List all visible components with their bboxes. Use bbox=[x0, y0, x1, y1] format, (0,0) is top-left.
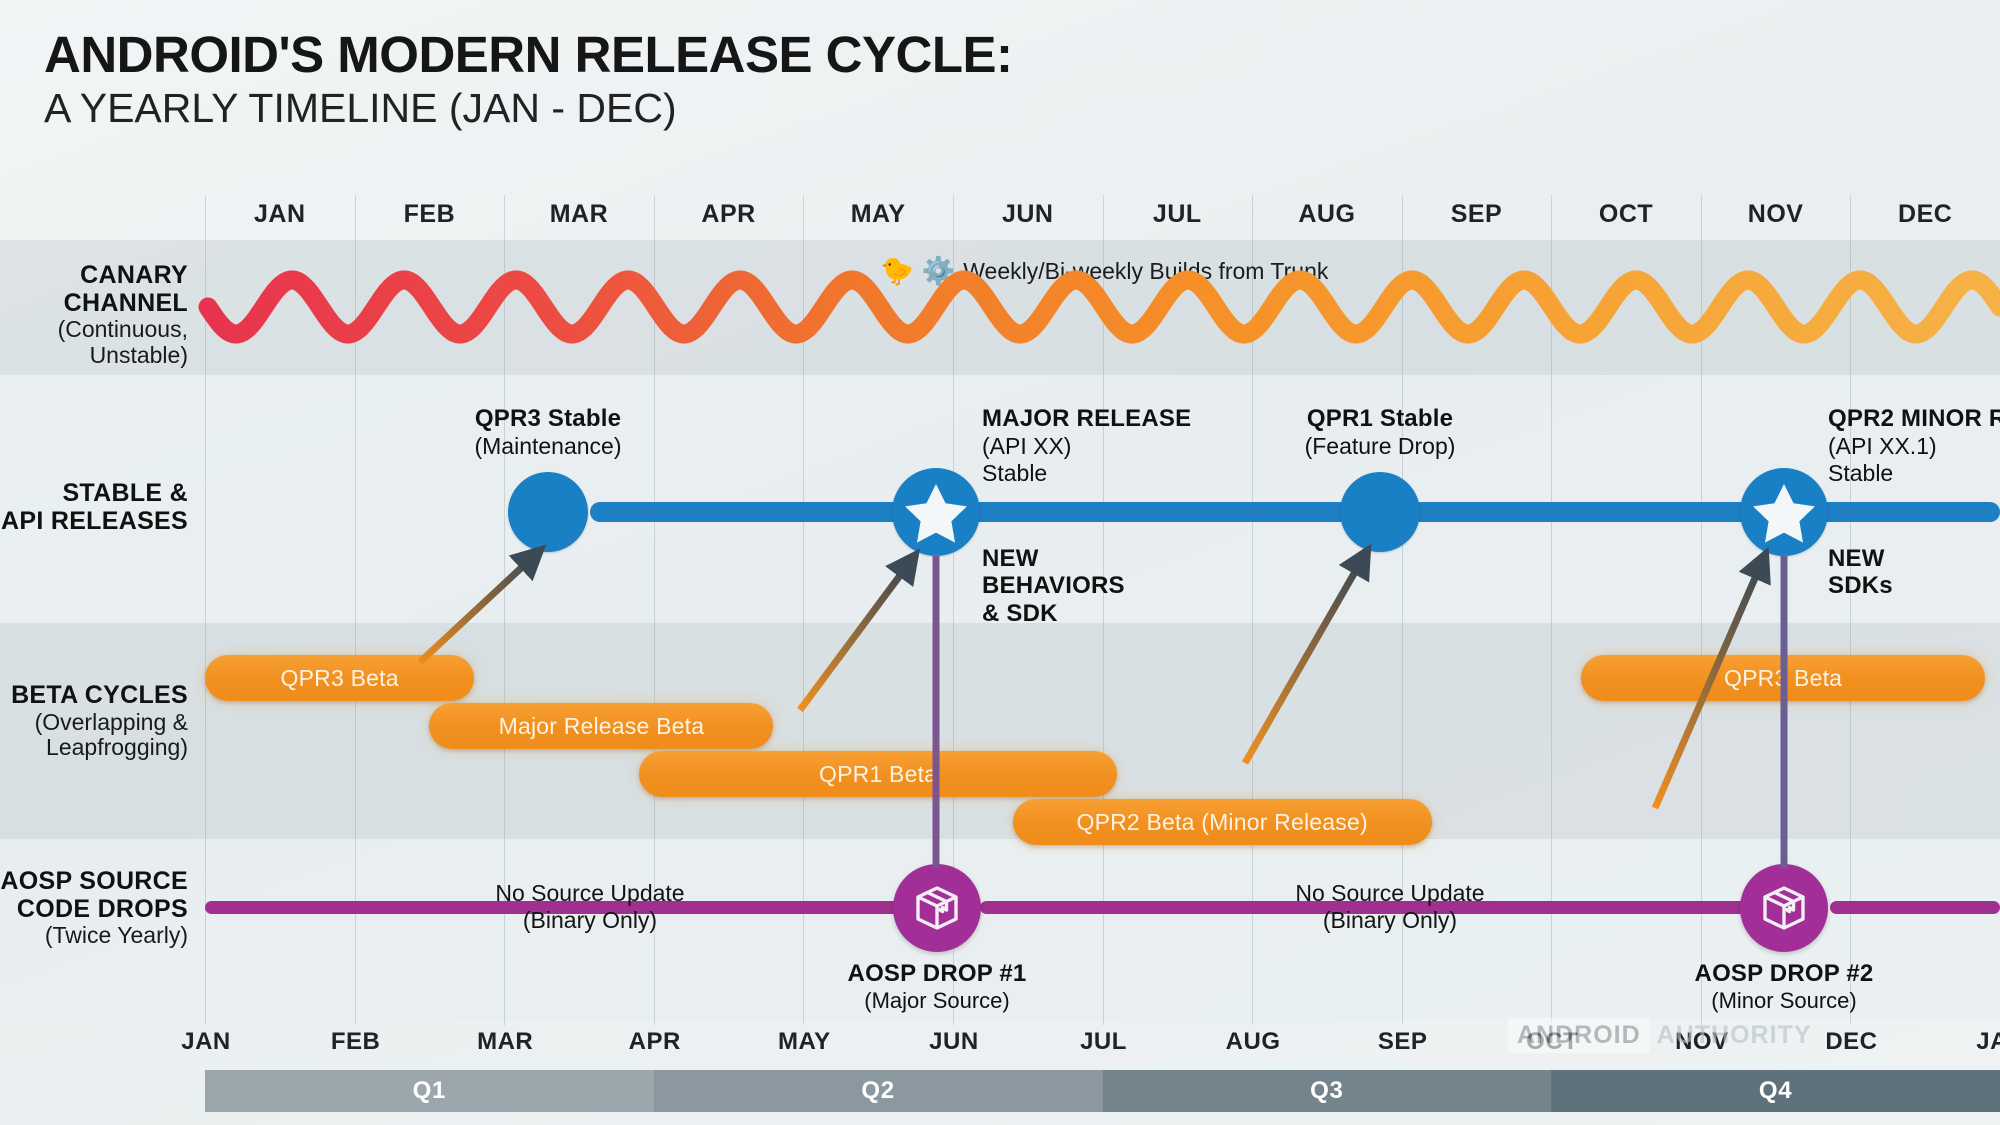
new-behaviors-line2: BEHAVIORS bbox=[982, 572, 1125, 599]
major-release-line3: Stable bbox=[982, 460, 1047, 486]
stable-row-label: STABLE & API RELEASES bbox=[0, 480, 188, 535]
beta-bar-label: QPR2 Beta (Minor Release) bbox=[1076, 809, 1367, 836]
qpr2-minor-line1: QPR2 MINOR RELEASE bbox=[1828, 405, 2000, 432]
marker-major-release[interactable] bbox=[892, 468, 980, 556]
callout-qpr1-stable: QPR1 Stable (Feature Drop) bbox=[1305, 405, 1456, 460]
bird-icon: 🐤 bbox=[880, 258, 914, 285]
month-label-oct: OCT bbox=[1551, 200, 1701, 229]
page-title-block: ANDROID'S MODERN RELEASE CYCLE: A YEARLY… bbox=[44, 28, 1013, 130]
aosp-drop-1-label: AOSP DROP #1 (Major Source) bbox=[787, 960, 1087, 1013]
month-label-jun: JUN bbox=[953, 200, 1103, 229]
month-header-row: JANFEBMARAPRMAYJUNJULAUGSEPOCTNOVDEC bbox=[205, 200, 2000, 240]
gear-icon: ⚙️ bbox=[922, 258, 956, 285]
stable-title-2: API RELEASES bbox=[0, 508, 188, 536]
beta-bar-qpr3-beta[interactable]: QPR3 Beta bbox=[1581, 655, 1985, 701]
aosp-drop-1-line1: AOSP DROP #1 bbox=[848, 960, 1027, 987]
beta-bar-qpr1-beta[interactable]: QPR1 Beta bbox=[639, 751, 1118, 797]
no-source-2-line2: (Binary Only) bbox=[1323, 907, 1457, 933]
bottom-month-label-7: AUG bbox=[1178, 1028, 1328, 1056]
quarter-bar-q2: Q2 bbox=[654, 1070, 1103, 1112]
star-glyph bbox=[892, 468, 980, 556]
bottom-month-label-0: JAN bbox=[131, 1028, 281, 1056]
aosp-row-label: AOSP SOURCE CODE DROPS (Twice Yearly) bbox=[0, 868, 188, 949]
month-label-nov: NOV bbox=[1701, 200, 1851, 229]
beta-bar-qpr2-beta-minor-release[interactable]: QPR2 Beta (Minor Release) bbox=[1013, 799, 1432, 845]
month-label-aug: AUG bbox=[1252, 200, 1402, 229]
beta-bar-label: Major Release Beta bbox=[499, 713, 705, 740]
beta-bar-label: QPR3 Beta bbox=[281, 665, 399, 692]
package-box-icon bbox=[1758, 882, 1810, 934]
month-label-jul: JUL bbox=[1103, 200, 1253, 229]
no-source-1-line2: (Binary Only) bbox=[523, 907, 657, 933]
no-source-update-label-1: No Source Update (Binary Only) bbox=[440, 880, 740, 933]
aosp-title-1: AOSP SOURCE bbox=[0, 868, 188, 896]
beta-bar-qpr3-beta[interactable]: QPR3 Beta bbox=[205, 655, 474, 701]
month-label-mar: MAR bbox=[504, 200, 654, 229]
month-label-sep: SEP bbox=[1402, 200, 1552, 229]
canary-build-note: 🐤 ⚙️ Weekly/Bi-weekly Builds from Trunk bbox=[880, 258, 1328, 285]
canary-title-1: CANARY bbox=[0, 262, 188, 290]
beta-sub-2: Leapfrogging) bbox=[0, 735, 188, 761]
bottom-month-label-5: JUN bbox=[879, 1028, 1029, 1056]
quarter-bar-q1: Q1 bbox=[205, 1070, 654, 1112]
bottom-month-label-3: APR bbox=[580, 1028, 730, 1056]
bottom-month-label-4: MAY bbox=[730, 1028, 880, 1056]
callout-new-behaviors: NEW BEHAVIORS & SDK bbox=[982, 545, 1125, 627]
beta-sub-1: (Overlapping & bbox=[0, 710, 188, 736]
no-source-update-label-2: No Source Update (Binary Only) bbox=[1240, 880, 1540, 933]
aosp-title-2: CODE DROPS bbox=[0, 896, 188, 924]
month-label-jan: JAN bbox=[205, 200, 355, 229]
major-release-line1: MAJOR RELEASE bbox=[982, 405, 1191, 432]
new-behaviors-line3: & SDK bbox=[982, 600, 1058, 627]
page-title: ANDROID'S MODERN RELEASE CYCLE: bbox=[44, 28, 1013, 81]
bottom-month-label-8: SEP bbox=[1328, 1028, 1478, 1056]
quarter-bar-q3: Q3 bbox=[1103, 1070, 1552, 1112]
qpr3-stable-line2: (Maintenance) bbox=[474, 433, 621, 459]
watermark-part1: ANDROID bbox=[1508, 1018, 1650, 1053]
page-subtitle: A YEARLY TIMELINE (JAN - DEC) bbox=[44, 87, 1013, 130]
aosp-drop-2-marker[interactable] bbox=[1740, 864, 1828, 952]
aosp-drop-2-label: AOSP DROP #2 (Minor Source) bbox=[1634, 960, 1934, 1013]
canary-sub-1: (Continuous, bbox=[0, 317, 188, 343]
gridline bbox=[205, 195, 206, 1025]
marker-qpr2-minor-release[interactable] bbox=[1740, 468, 1828, 556]
qpr3-stable-line1: QPR3 Stable bbox=[475, 405, 621, 432]
stable-title-1: STABLE & bbox=[0, 480, 188, 508]
marker-qpr3-stable[interactable] bbox=[508, 472, 588, 552]
month-label-feb: FEB bbox=[355, 200, 505, 229]
aosp-drop-1-line2: (Major Source) bbox=[864, 988, 1009, 1013]
marker-qpr1-stable[interactable] bbox=[1340, 472, 1420, 552]
month-label-dec: DEC bbox=[1850, 200, 2000, 229]
infographic-canvas: ANDROID'S MODERN RELEASE CYCLE: A YEARLY… bbox=[0, 0, 2000, 1125]
beta-bar-label: QPR1 Beta bbox=[819, 761, 937, 788]
bottom-month-label-12: JAN bbox=[1926, 1028, 2000, 1056]
watermark-part2: AUTHORITY bbox=[1657, 1021, 1812, 1050]
new-sdks-line2: SDKs bbox=[1828, 572, 1893, 599]
new-sdks-line1: NEW bbox=[1828, 545, 1885, 572]
no-source-1-line1: No Source Update bbox=[495, 880, 684, 906]
aosp-axis-segment-3 bbox=[1830, 901, 2000, 914]
bottom-month-label-6: JUL bbox=[1029, 1028, 1179, 1056]
aosp-sub: (Twice Yearly) bbox=[0, 923, 188, 949]
no-source-2-line1: No Source Update bbox=[1295, 880, 1484, 906]
month-label-may: MAY bbox=[803, 200, 953, 229]
beta-bar-major-release-beta[interactable]: Major Release Beta bbox=[429, 703, 773, 749]
major-release-line2: (API XX) bbox=[982, 433, 1071, 459]
aosp-drop-2-line2: (Minor Source) bbox=[1711, 988, 1856, 1013]
star-glyph bbox=[1740, 468, 1828, 556]
month-label-apr: APR bbox=[654, 200, 804, 229]
canary-sub-2: Unstable) bbox=[0, 343, 188, 369]
quarter-bar-q4: Q4 bbox=[1551, 1070, 2000, 1112]
new-behaviors-line1: NEW bbox=[982, 545, 1039, 572]
aosp-drop-2-line1: AOSP DROP #2 bbox=[1695, 960, 1874, 987]
qpr1-stable-line2: (Feature Drop) bbox=[1305, 433, 1456, 459]
package-box-icon bbox=[911, 882, 963, 934]
canary-note-text: Weekly/Bi-weekly Builds from Trunk bbox=[963, 258, 1328, 285]
bottom-month-label-2: MAR bbox=[430, 1028, 580, 1056]
callout-qpr3-stable: QPR3 Stable (Maintenance) bbox=[474, 405, 621, 460]
qpr1-stable-line1: QPR1 Stable bbox=[1307, 405, 1453, 432]
callout-qpr2-minor: QPR2 MINOR RELEASE (API XX.1) Stable bbox=[1828, 405, 2000, 486]
callout-major-release: MAJOR RELEASE (API XX) Stable bbox=[982, 405, 1191, 486]
qpr2-minor-line2: (API XX.1) bbox=[1828, 433, 1937, 459]
beta-row-label: BETA CYCLES (Overlapping & Leapfrogging) bbox=[0, 682, 188, 761]
watermark: ANDROID AUTHORITY bbox=[1508, 1018, 1812, 1053]
canary-row-label: CANARY CHANNEL (Continuous, Unstable) bbox=[0, 262, 188, 369]
canary-title-2: CHANNEL bbox=[0, 290, 188, 318]
qpr2-minor-line3: Stable bbox=[1828, 460, 1893, 486]
beta-title: BETA CYCLES bbox=[0, 682, 188, 710]
aosp-drop-1-marker[interactable] bbox=[893, 864, 981, 952]
beta-bar-label: QPR3 Beta bbox=[1724, 665, 1842, 692]
callout-new-sdks: NEW SDKs bbox=[1828, 545, 1893, 600]
bottom-month-label-1: FEB bbox=[281, 1028, 431, 1056]
